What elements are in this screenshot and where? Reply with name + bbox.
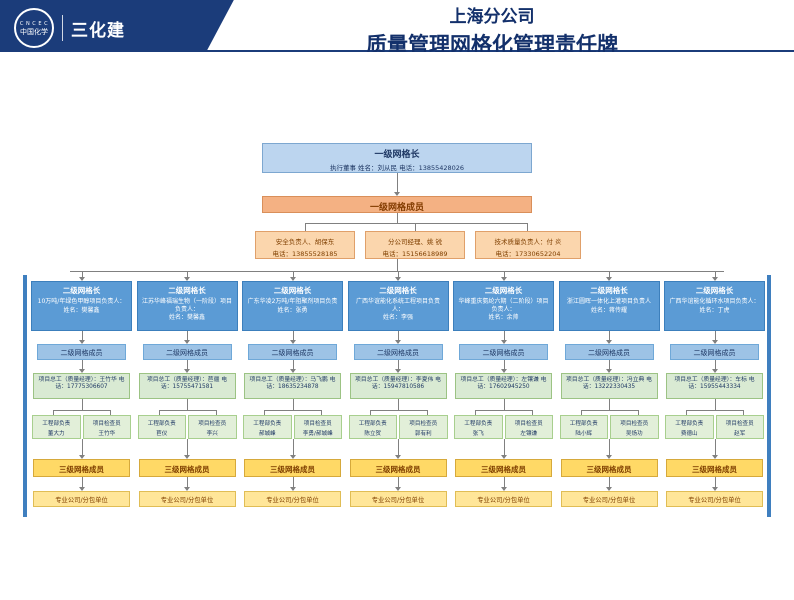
project-chief-engineer-text-5: 项目总工（质量经理）：冯立典 电话：13222330435	[564, 377, 655, 391]
connector-col-6-dept	[715, 399, 716, 410]
dept-role-3-0: 工程部负责	[351, 419, 396, 427]
dept-name-1-0: 苣仪	[140, 429, 185, 437]
level2-project-0: 10万吨/年绿色甲醇项目负责人：	[35, 298, 128, 306]
connector-level1-to-member	[397, 173, 398, 194]
level1-detail: 执行董事 姓名：刘从民 电话：13855428026	[263, 162, 531, 172]
subcontractor-label-4: 专业公司/分包单位	[456, 495, 551, 504]
subcontractor-label-2: 专业公司/分包单位	[245, 495, 340, 504]
level2-member-label-5: 二级网格成员	[566, 348, 653, 358]
project-chief-engineer-text-1: 项目总工（质量经理）：苣疆 电话：15755471581	[142, 377, 233, 391]
function-branch-line1: 分公司经理、姚 锐	[366, 236, 464, 246]
project-chief-engineer-box-6: 项目总工（质量经理）：车标 电话：15955443334	[666, 373, 763, 399]
project-chief-engineer-box-5: 项目总工（质量经理）：冯立典 电话：13222330435	[561, 373, 658, 399]
dept-box-4-0: 工程部负责 张飞	[454, 415, 503, 439]
dept-role-3-1: 项目检查员	[401, 419, 446, 427]
level2-name-5: 姓名：蒋传耀	[563, 307, 656, 315]
level2-title-2: 二级网格长	[246, 285, 339, 296]
level2-title-1: 二级网格长	[141, 285, 234, 296]
dept-name-5-1: 吴炀功	[612, 429, 657, 437]
level3-member-label-2: 三级网格成员	[245, 464, 340, 475]
dept-name-4-0: 张飞	[456, 429, 501, 437]
level2-member-box-2: 二级网格成员	[248, 344, 337, 360]
level2-leader-box-4: 二级网格长 华峰重庆氨纶六期（二阶段）项目负责人： 姓名：余帅	[453, 281, 554, 331]
level2-member-label-0: 二级网格成员	[38, 348, 125, 358]
connector-col-4-dept-bus	[475, 410, 532, 411]
dept-box-2-1: 项目检查员 李勇/郝城峰	[294, 415, 343, 439]
level2-member-box-5: 二级网格成员	[565, 344, 654, 360]
level2-name-6: 姓名：丁虎	[668, 307, 761, 315]
level2-project-2: 广东华凌2万吨/年阻聚剂项目负责	[246, 298, 339, 306]
dept-role-2-1: 项目检查员	[296, 419, 341, 427]
level2-member-label-4: 二级网格成员	[460, 348, 547, 358]
dept-role-0-0: 工程部负责	[34, 419, 79, 427]
connector-member-down	[397, 213, 398, 223]
connector-columns-bus	[70, 271, 724, 272]
dept-role-1-1: 项目检查员	[190, 419, 235, 427]
dept-name-3-0: 陈立贺	[351, 429, 396, 437]
subcontractor-label-6: 专业公司/分包单位	[667, 495, 762, 504]
logo-brand-text: 三化建	[71, 16, 125, 41]
right-accent-band	[767, 275, 771, 517]
connector-col-1-dept-bus	[159, 410, 216, 411]
connector-col-4-dept	[504, 399, 505, 410]
page-title: 上海分公司 质量管理网格化管理责任牌	[200, 4, 784, 52]
subcontractor-label-0: 专业公司/分包单位	[34, 495, 129, 504]
level1-member-box: 一级网格成员	[262, 196, 532, 213]
dept-name-2-0: 郝城峰	[245, 429, 290, 437]
level1-grid-leader-box: 一级网格长 执行董事 姓名：刘从民 电话：13855428026	[262, 143, 532, 173]
project-chief-engineer-box-2: 项目总工（质量经理）：马飞鹏 电话：18635234878	[244, 373, 341, 399]
cnceс-logo-icon: C N C E C 中国化学	[14, 8, 54, 48]
connector-col-1-dept	[187, 399, 188, 410]
level2-project-1: 江苏华峰福瑞生物（一阶段）项目负责人：	[141, 298, 234, 313]
dept-role-2-0: 工程部负责	[245, 419, 290, 427]
level2-member-box-6: 二级网格成员	[670, 344, 759, 360]
project-chief-engineer-text-0: 项目总工（质量经理）：王竹华 电话：17775306607	[36, 377, 127, 391]
dept-box-3-1: 项目检查员 郭有利	[399, 415, 448, 439]
subcontractor-box-3: 专业公司/分包单位	[350, 491, 447, 507]
function-safety-line2: 电话：13855528185	[256, 248, 354, 258]
project-chief-engineer-box-1: 项目总工（质量经理）：苣疆 电话：15755471581	[139, 373, 236, 399]
level3-member-label-5: 三级网格成员	[562, 464, 657, 475]
logo-en-text: C N C E C	[20, 21, 48, 27]
level2-title-4: 二级网格长	[457, 285, 550, 296]
level2-title-6: 二级网格长	[668, 285, 761, 296]
level2-member-box-1: 二级网格成员	[143, 344, 232, 360]
function-tech-line2: 电话：17330652204	[476, 248, 580, 258]
org-chart-page: C N C E C 中国化学 三化建 上海分公司 质量管理网格化管理责任牌 一级…	[0, 0, 794, 600]
dept-name-6-1: 赵军	[718, 429, 763, 437]
level2-name-0: 姓名：樊馨鑫	[35, 307, 128, 315]
level2-title-5: 二级网格长	[563, 285, 656, 296]
dept-role-4-1: 项目检查员	[507, 419, 552, 427]
project-chief-engineer-text-2: 项目总工（质量经理）：马飞鹏 电话：18635234878	[247, 377, 338, 391]
dept-box-5-0: 工程部负责 陆小辉	[560, 415, 609, 439]
dept-role-5-0: 工程部负责	[562, 419, 607, 427]
left-accent-band	[23, 275, 27, 517]
level3-member-box-6: 三级网格成员	[666, 459, 763, 477]
subcontractor-box-2: 专业公司/分包单位	[244, 491, 341, 507]
level3-member-box-5: 三级网格成员	[561, 459, 658, 477]
dept-box-0-1: 项目检查员 王竹华	[83, 415, 132, 439]
dept-box-1-0: 工程部负责 苣仪	[138, 415, 187, 439]
level2-project-5: 浙江圆晖一体化上灌项目负责人	[563, 298, 656, 306]
subcontractor-box-6: 专业公司/分包单位	[666, 491, 763, 507]
connector-col-5-dept	[609, 399, 610, 410]
level2-project-3: 广西华谊能化系统工程项目负责人：	[352, 298, 445, 313]
level3-member-box-0: 三级网格成员	[33, 459, 130, 477]
dept-name-1-1: 李兴	[190, 429, 235, 437]
logo-divider	[62, 15, 63, 41]
company-logo: C N C E C 中国化学 三化建	[14, 8, 125, 48]
level1-title: 一级网格长	[263, 147, 531, 160]
function-tech-line1: 技术质量负责人：付 炎	[476, 236, 580, 246]
subcontractor-box-0: 专业公司/分包单位	[33, 491, 130, 507]
level2-leader-box-5: 二级网格长 浙江圆晖一体化上灌项目负责人 姓名：蒋传耀	[559, 281, 660, 331]
connector-col-2-dept-bus	[264, 410, 321, 411]
project-chief-engineer-text-3: 项目总工（质量经理）：李夏伟 电话：15947810586	[353, 377, 444, 391]
level2-leader-box-6: 二级网格长 广西华谊能化循环水项目负责人： 姓名：丁虎	[664, 281, 765, 331]
dept-name-6-0: 费德山	[667, 429, 712, 437]
project-chief-engineer-box-0: 项目总工（质量经理）：王竹华 电话：17775306607	[33, 373, 130, 399]
connector-col-5-dept-bus	[581, 410, 638, 411]
level2-leader-box-0: 二级网格长 10万吨/年绿色甲醇项目负责人： 姓名：樊馨鑫	[31, 281, 132, 331]
connector-col-2-dept	[293, 399, 294, 410]
subcontractor-box-1: 专业公司/分包单位	[139, 491, 236, 507]
level2-member-label-3: 二级网格成员	[355, 348, 442, 358]
level3-member-box-3: 三级网格成员	[350, 459, 447, 477]
level1-member-title: 一级网格成员	[263, 200, 531, 213]
dept-box-5-1: 项目检查员 吴炀功	[610, 415, 659, 439]
level2-leader-box-1: 二级网格长 江苏华峰福瑞生物（一阶段）项目负责人： 姓名：樊馨鑫	[137, 281, 238, 331]
level3-member-box-4: 三级网格成员	[455, 459, 552, 477]
dept-box-6-1: 项目检查员 赵军	[716, 415, 765, 439]
level3-member-label-4: 三级网格成员	[456, 464, 551, 475]
level3-member-label-1: 三级网格成员	[140, 464, 235, 475]
dept-box-6-0: 工程部负责 费德山	[665, 415, 714, 439]
level2-member-label-1: 二级网格成员	[144, 348, 231, 358]
level2-name-3: 姓名：李强	[352, 314, 445, 322]
level2-leader-box-2: 二级网格长 广东华凌2万吨/年阻聚剂项目负责 姓名：张勇	[242, 281, 343, 331]
subcontractor-box-5: 专业公司/分包单位	[561, 491, 658, 507]
level3-member-box-2: 三级网格成员	[244, 459, 341, 477]
subcontractor-label-1: 专业公司/分包单位	[140, 495, 235, 504]
level2-name-2: 姓名：张勇	[246, 307, 339, 315]
level3-member-label-3: 三级网格成员	[351, 464, 446, 475]
level3-member-box-1: 三级网格成员	[139, 459, 236, 477]
project-chief-engineer-box-4: 项目总工（质量经理）：左镶谦 电话：17602945250	[455, 373, 552, 399]
dept-name-5-0: 陆小辉	[562, 429, 607, 437]
subcontractor-label-3: 专业公司/分包单位	[351, 495, 446, 504]
subcontractor-box-4: 专业公司/分包单位	[455, 491, 552, 507]
project-chief-engineer-box-3: 项目总工（质量经理）：李夏伟 电话：15947810586	[350, 373, 447, 399]
subcontractor-label-5: 专业公司/分包单位	[562, 495, 657, 504]
page-title-line1: 上海分公司	[200, 4, 784, 30]
dept-role-0-1: 项目检查员	[85, 419, 130, 427]
dept-box-3-0: 工程部负责 陈立贺	[349, 415, 398, 439]
connector-func-down	[397, 259, 398, 271]
logo-cn-text: 中国化学	[20, 28, 48, 36]
connector-col-3-dept-bus	[370, 410, 427, 411]
level2-name-1: 姓名：樊馨鑫	[141, 314, 234, 322]
dept-role-6-1: 项目检查员	[718, 419, 763, 427]
dept-box-1-1: 项目检查员 李兴	[188, 415, 237, 439]
function-box-branch-manager: 分公司经理、姚 锐 电话：15156618989	[365, 231, 465, 259]
project-chief-engineer-text-4: 项目总工（质量经理）：左镶谦 电话：17602945250	[458, 377, 549, 391]
level2-member-box-3: 二级网格成员	[354, 344, 443, 360]
dept-name-0-0: 董大力	[34, 429, 79, 437]
dept-name-0-1: 王竹华	[85, 429, 130, 437]
level2-project-4: 华峰重庆氨纶六期（二阶段）项目负责人：	[457, 298, 550, 313]
connector-col-0-dept-bus	[53, 410, 110, 411]
dept-box-2-0: 工程部负责 郝城峰	[243, 415, 292, 439]
connector-col-3-dept	[398, 399, 399, 410]
function-box-technical-quality: 技术质量负责人：付 炎 电话：17330652204	[475, 231, 581, 259]
dept-box-0-0: 工程部负责 董大力	[32, 415, 81, 439]
project-chief-engineer-text-6: 项目总工（质量经理）：车标 电话：15955443334	[669, 377, 760, 391]
function-branch-line2: 电话：15156618989	[366, 248, 464, 258]
level3-member-label-0: 三级网格成员	[34, 464, 129, 475]
dept-name-4-1: 左镶谦	[507, 429, 552, 437]
page-title-line2: 质量管理网格化管理责任牌	[200, 30, 784, 52]
level2-name-4: 姓名：余帅	[457, 314, 550, 322]
level2-title-0: 二级网格长	[35, 285, 128, 296]
function-box-safety: 安全负责人、胡保东 电话：13855528185	[255, 231, 355, 259]
level2-member-box-0: 二级网格成员	[37, 344, 126, 360]
level2-member-label-2: 二级网格成员	[249, 348, 336, 358]
dept-name-2-1: 李勇/郝城峰	[296, 429, 341, 437]
dept-box-4-1: 项目检查员 左镶谦	[505, 415, 554, 439]
connector-col-6-dept-bus	[686, 410, 743, 411]
dept-role-4-0: 工程部负责	[456, 419, 501, 427]
level2-title-3: 二级网格长	[352, 285, 445, 296]
level2-member-box-4: 二级网格成员	[459, 344, 548, 360]
connector-col-0-dept	[82, 399, 83, 410]
level2-leader-box-3: 二级网格长 广西华谊能化系统工程项目负责人： 姓名：李强	[348, 281, 449, 331]
dept-role-1-0: 工程部负责	[140, 419, 185, 427]
dept-name-3-1: 郭有利	[401, 429, 446, 437]
dept-role-5-1: 项目检查员	[612, 419, 657, 427]
level3-member-label-6: 三级网格成员	[667, 464, 762, 475]
page-header: C N C E C 中国化学 三化建 上海分公司 质量管理网格化管理责任牌	[0, 0, 794, 52]
connector-functions-bus	[305, 223, 527, 224]
level2-project-6: 广西华谊能化循环水项目负责人：	[668, 298, 761, 306]
function-safety-line1: 安全负责人、胡保东	[256, 236, 354, 246]
dept-role-6-0: 工程部负责	[667, 419, 712, 427]
level2-member-label-6: 二级网格成员	[671, 348, 758, 358]
